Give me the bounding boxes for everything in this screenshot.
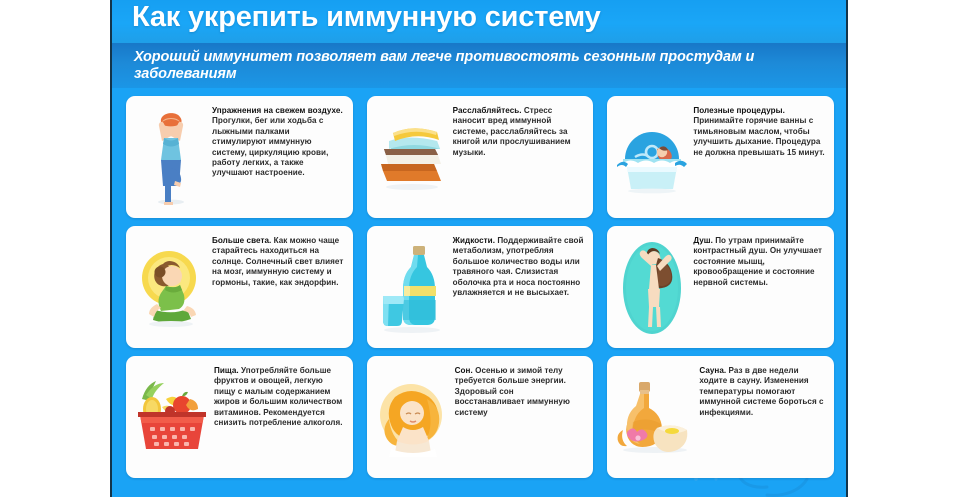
stack-of-books-icon xyxy=(373,104,451,212)
tip-card-text: Сауна. Раз в две недели ходите в сауну. … xyxy=(697,364,828,418)
tip-card-text: Больше света. Как можно чаще старайтесь … xyxy=(210,234,347,288)
screenshot-canvas: Как укрепить иммунную систему Хороший им… xyxy=(0,0,960,497)
tip-lead: Душ. xyxy=(693,236,713,245)
tip-body: Употребляйте больше фруктов и овощей, ле… xyxy=(214,366,343,427)
water-bottle-and-glass-icon xyxy=(373,234,451,342)
sleeping-woman-icon xyxy=(373,364,453,472)
woman-in-sunlight-icon xyxy=(132,234,210,342)
woman-shower-icon xyxy=(613,234,691,342)
tips-grid: Упражнения на свежем воздухе. Прогулки, … xyxy=(112,90,846,488)
tip-card-text: Полезные процедуры. Принимайте горячие в… xyxy=(691,104,828,158)
tip-body: Осенью и зимой телу требуется больше эне… xyxy=(455,366,570,417)
poster-subtitle-band: Хороший иммунитет позволяет вам легче пр… xyxy=(112,43,846,88)
tip-card-hot-bath[interactable]: Полезные процедуры. Принимайте горячие в… xyxy=(607,96,834,218)
tip-lead: Сон. xyxy=(455,366,473,375)
infographic-poster: Как укрепить иммунную систему Хороший им… xyxy=(110,0,848,497)
tip-card-food[interactable]: Пища. Употребляйте больше фруктов и овощ… xyxy=(126,356,353,478)
tip-card-sunlight[interactable]: Больше света. Как можно чаще старайтесь … xyxy=(126,226,353,348)
tip-card-sauna[interactable]: Сауна. Раз в две недели ходите в сауну. … xyxy=(607,356,834,478)
page-subtitle: Хороший иммунитет позволяет вам легче пр… xyxy=(134,49,832,83)
tip-card-exercise[interactable]: Упражнения на свежем воздухе. Прогулки, … xyxy=(126,96,353,218)
tip-body: Принимайте горячие ванны с тимьяновым ма… xyxy=(693,116,824,156)
poster-title-band: Как укрепить иммунную систему xyxy=(112,0,846,43)
tip-lead: Пища. xyxy=(214,366,239,375)
hot-bath-icon xyxy=(613,104,691,212)
page-title: Как укрепить иммунную систему xyxy=(132,1,601,34)
tip-card-sleep[interactable]: Сон. Осенью и зимой телу требуется больш… xyxy=(367,356,594,478)
tip-card-relax[interactable]: Расслабляйтесь. Стресс наносит вред имму… xyxy=(367,96,594,218)
tip-body: Поддерживайте свой метаболизм, употребля… xyxy=(453,236,584,297)
tip-card-text: Жидкости. Поддерживайте свой метаболизм,… xyxy=(451,234,588,298)
tip-card-text: Душ. По утрам принимайте контрастный душ… xyxy=(691,234,828,288)
tip-card-shower[interactable]: Душ. По утрам принимайте контрастный душ… xyxy=(607,226,834,348)
tip-card-fluids[interactable]: Жидкости. Поддерживайте свой метаболизм,… xyxy=(367,226,594,348)
tip-lead: Полезные процедуры. xyxy=(693,106,785,115)
woman-yoga-tree-pose-icon xyxy=(132,104,210,212)
grocery-basket-icon xyxy=(132,364,212,472)
tip-lead: Сауна. xyxy=(699,366,726,375)
tip-card-text: Расслабляйтесь. Стресс наносит вред имму… xyxy=(451,104,588,158)
tip-lead: Жидкости. xyxy=(453,236,495,245)
tip-body: По утрам принимайте контрастный душ. Он … xyxy=(693,236,822,287)
tip-lead: Больше света. xyxy=(212,236,271,245)
tip-body: Прогулки, бег или ходьба с лыжными палка… xyxy=(212,116,328,177)
tip-lead: Упражнения на свежем воздухе. xyxy=(212,106,343,115)
tip-card-text: Пища. Употребляйте больше фруктов и овощ… xyxy=(212,364,347,428)
tip-card-text: Сон. Осенью и зимой телу требуется больш… xyxy=(453,364,588,418)
tip-card-text: Упражнения на свежем воздухе. Прогулки, … xyxy=(210,104,347,179)
aroma-oil-bottle-bowl-icon xyxy=(613,364,697,472)
tip-lead: Расслабляйтесь. xyxy=(453,106,522,115)
